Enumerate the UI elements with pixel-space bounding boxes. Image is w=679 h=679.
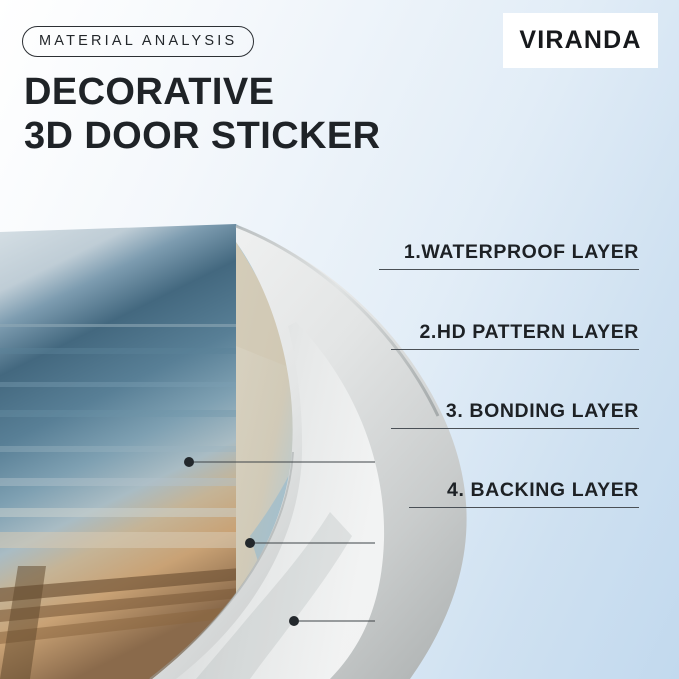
title-line-1: DECORATIVE (24, 71, 274, 113)
callout-label-text: 4. BACKING LAYER (447, 479, 639, 501)
callout-label-waterproof: 1.WATERPROOF LAYER (379, 241, 639, 270)
callout-dot-2 (245, 538, 255, 548)
brand-name: VIRANDA (519, 26, 641, 55)
callout-label-text: 2.HD PATTERN LAYER (419, 321, 639, 343)
callout-label-backing: 4. BACKING LAYER (409, 479, 639, 508)
eyebrow-badge: MATERIAL ANALYSIS (22, 26, 254, 57)
callout-underline (379, 269, 639, 270)
callout-underline (391, 349, 639, 350)
callout-underline (391, 428, 639, 429)
callout-dot-3 (289, 616, 299, 626)
callout-label-text: 1.WATERPROOF LAYER (404, 241, 639, 263)
poster: MATERIAL ANALYSIS DECORATIVE 3D DOOR STI… (0, 0, 679, 679)
beach-photo-panel (0, 216, 240, 679)
title-line-2: 3D DOOR STICKER (24, 114, 380, 158)
callout-label-text: 3. BONDING LAYER (446, 400, 639, 422)
page-title: DECORATIVE 3D DOOR STICKER (24, 70, 380, 158)
callout-dot-1 (184, 457, 194, 467)
brand-logo: VIRANDA (503, 13, 658, 68)
callout-underline (409, 507, 639, 508)
callout-label-bonding: 3. BONDING LAYER (391, 400, 639, 429)
callout-label-hd-pattern: 2.HD PATTERN LAYER (391, 321, 639, 350)
